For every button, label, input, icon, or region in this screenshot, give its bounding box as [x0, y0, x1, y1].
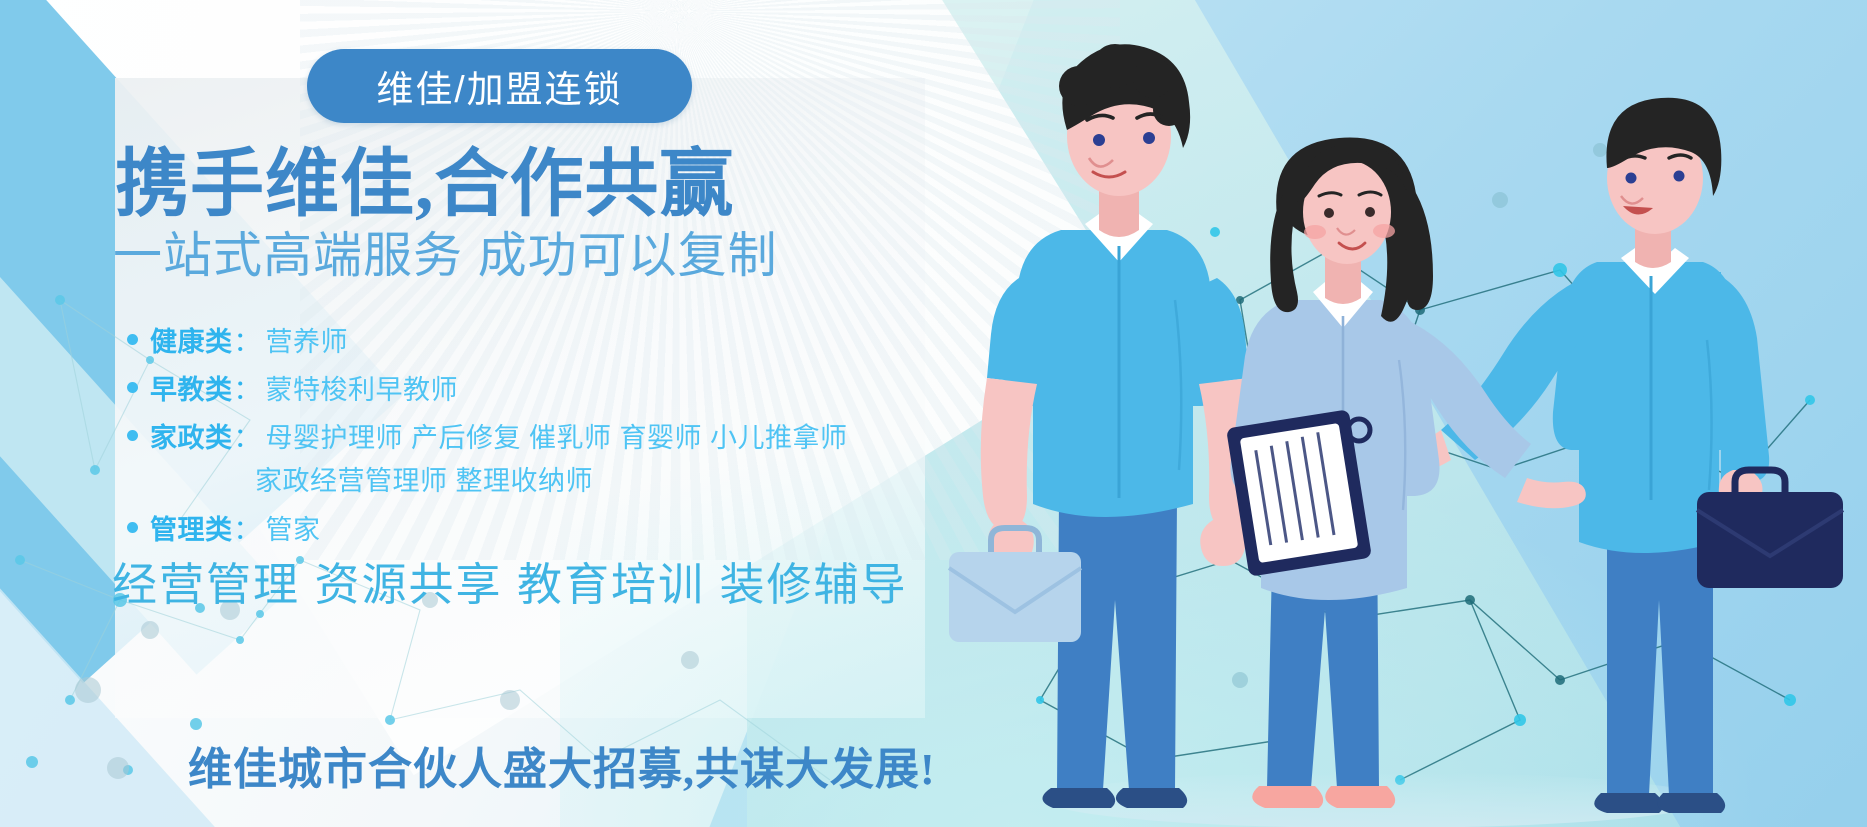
category-label: 管理类 — [150, 508, 233, 547]
category-list: 健康类 ： 营养师 早教类 ： 蒙特梭利早教师 家政类 ： 母婴护理师 产后修复… — [127, 320, 927, 556]
bullet-dot-icon — [127, 522, 138, 533]
clipboard-icon — [1226, 409, 1372, 577]
list-item: 管理类 ： 管家 — [127, 508, 927, 547]
category-value-continuation: 家政经营管理师 整理收纳师 — [127, 464, 927, 499]
category-label: 家政类 — [150, 416, 233, 455]
list-item: 早教类 ： 蒙特梭利早教师 — [127, 368, 927, 407]
category-colon: ： — [234, 416, 261, 455]
category-label: 早教类 — [150, 368, 233, 407]
category-value: 营养师 — [266, 320, 349, 359]
bullet-dot-icon — [127, 382, 138, 393]
list-item: 健康类 ： 营养师 — [127, 320, 927, 359]
category-colon: ： — [234, 508, 261, 547]
promo-banner: 维佳/加盟连锁 携手维佳,合作共赢 一站式高端服务 成功可以复制 健康类 ： 营… — [0, 0, 1867, 827]
bullet-dot-icon — [127, 430, 138, 441]
category-colon: ： — [234, 320, 261, 359]
recruitment-slogan: 维佳城市合伙人盛大招募,共谋大发展! — [188, 733, 936, 797]
services-line: 经营管理 资源共享 教育培训 装修辅导 — [112, 548, 908, 613]
business-people-illustration — [907, 0, 1867, 827]
brand-badge: 维佳/加盟连锁 — [307, 49, 692, 123]
category-label: 健康类 — [150, 320, 233, 359]
category-value: 蒙特梭利早教师 — [266, 368, 459, 407]
figure-left-man — [949, 44, 1255, 808]
brand-badge-label: 维佳/加盟连锁 — [376, 59, 622, 113]
category-colon: ： — [234, 368, 261, 407]
headline: 携手维佳,合作共赢 — [115, 148, 735, 222]
bullet-dot-icon — [127, 334, 138, 345]
subheadline: 一站式高端服务 成功可以复制 — [113, 232, 778, 281]
category-value: 母婴护理师 产后修复 催乳师 育婴师 小儿推拿师 — [266, 416, 848, 455]
list-item: 家政类 ： 母婴护理师 产后修复 催乳师 育婴师 小儿推拿师 — [127, 416, 927, 455]
category-value: 管家 — [266, 508, 321, 547]
figure-woman — [1226, 138, 1586, 808]
figure-right-man — [1380, 98, 1843, 813]
banner-content: 维佳/加盟连锁 携手维佳,合作共赢 一站式高端服务 成功可以复制 健康类 ： 营… — [0, 0, 1000, 827]
